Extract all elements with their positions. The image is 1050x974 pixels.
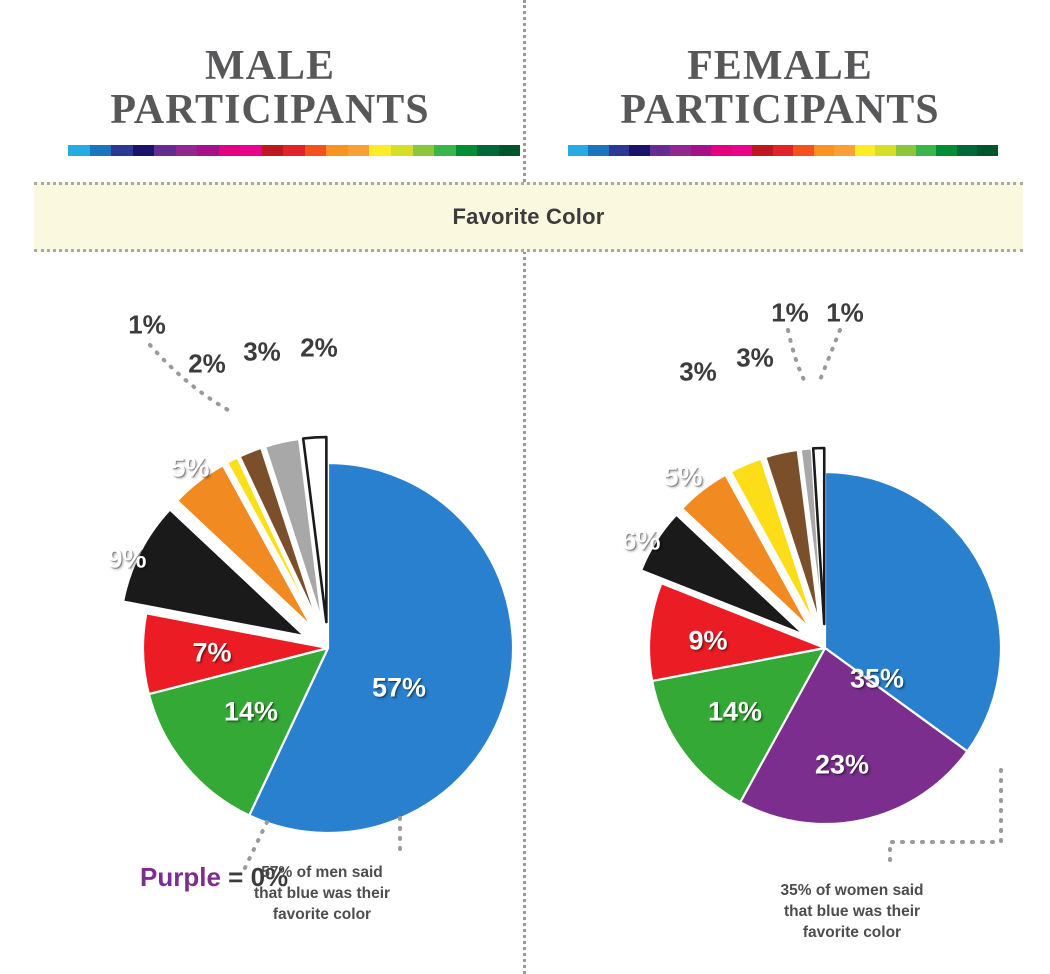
male-caption-line1: 57% of men said bbox=[217, 862, 427, 883]
female-label-red: 9% bbox=[688, 626, 727, 657]
female-caption-line3: favorite color bbox=[737, 922, 967, 943]
female-label-orange: 5% bbox=[663, 462, 702, 493]
female-white-1pct-leader bbox=[820, 330, 840, 380]
male-caption-line3: favorite color bbox=[217, 904, 427, 925]
male-label-green: 14% bbox=[224, 697, 278, 728]
male-label-gray: 3% bbox=[243, 337, 281, 368]
female-gray-1pct-leader bbox=[788, 330, 805, 382]
female-label-white: 1% bbox=[826, 298, 864, 329]
female-label-purple: 23% bbox=[815, 750, 869, 781]
male-label-blue: 57% bbox=[372, 673, 426, 704]
female-caption-line2: that blue was their bbox=[737, 901, 967, 922]
purple-word: Purple bbox=[140, 862, 221, 892]
female-leader-lines bbox=[0, 0, 1050, 974]
female-label-green: 14% bbox=[708, 697, 762, 728]
male-caption-line2: that blue was their bbox=[217, 883, 427, 904]
female-label-blue: 35% bbox=[850, 664, 904, 695]
male-label-black: 9% bbox=[107, 544, 146, 575]
female-caption-leader bbox=[890, 770, 1001, 862]
female-label-brown: 3% bbox=[736, 343, 774, 374]
female-label-gray: 1% bbox=[771, 298, 809, 329]
female-label-black: 6% bbox=[621, 526, 660, 557]
male-caption: 57% of men said that blue was their favo… bbox=[217, 862, 427, 925]
male-label-white: 2% bbox=[300, 333, 338, 364]
infographic-canvas: MALE PARTICIPANTS FEMALE PARTICIPANTS Fa… bbox=[0, 0, 1050, 974]
male-label-brown: 2% bbox=[188, 349, 226, 380]
male-label-orange: 5% bbox=[170, 453, 209, 484]
female-caption: 35% of women said that blue was their fa… bbox=[737, 880, 967, 943]
male-label-red: 7% bbox=[192, 638, 231, 669]
female-caption-line1: 35% of women said bbox=[737, 880, 967, 901]
female-label-yellow: 3% bbox=[679, 357, 717, 388]
male-label-yellow: 1% bbox=[128, 310, 166, 341]
